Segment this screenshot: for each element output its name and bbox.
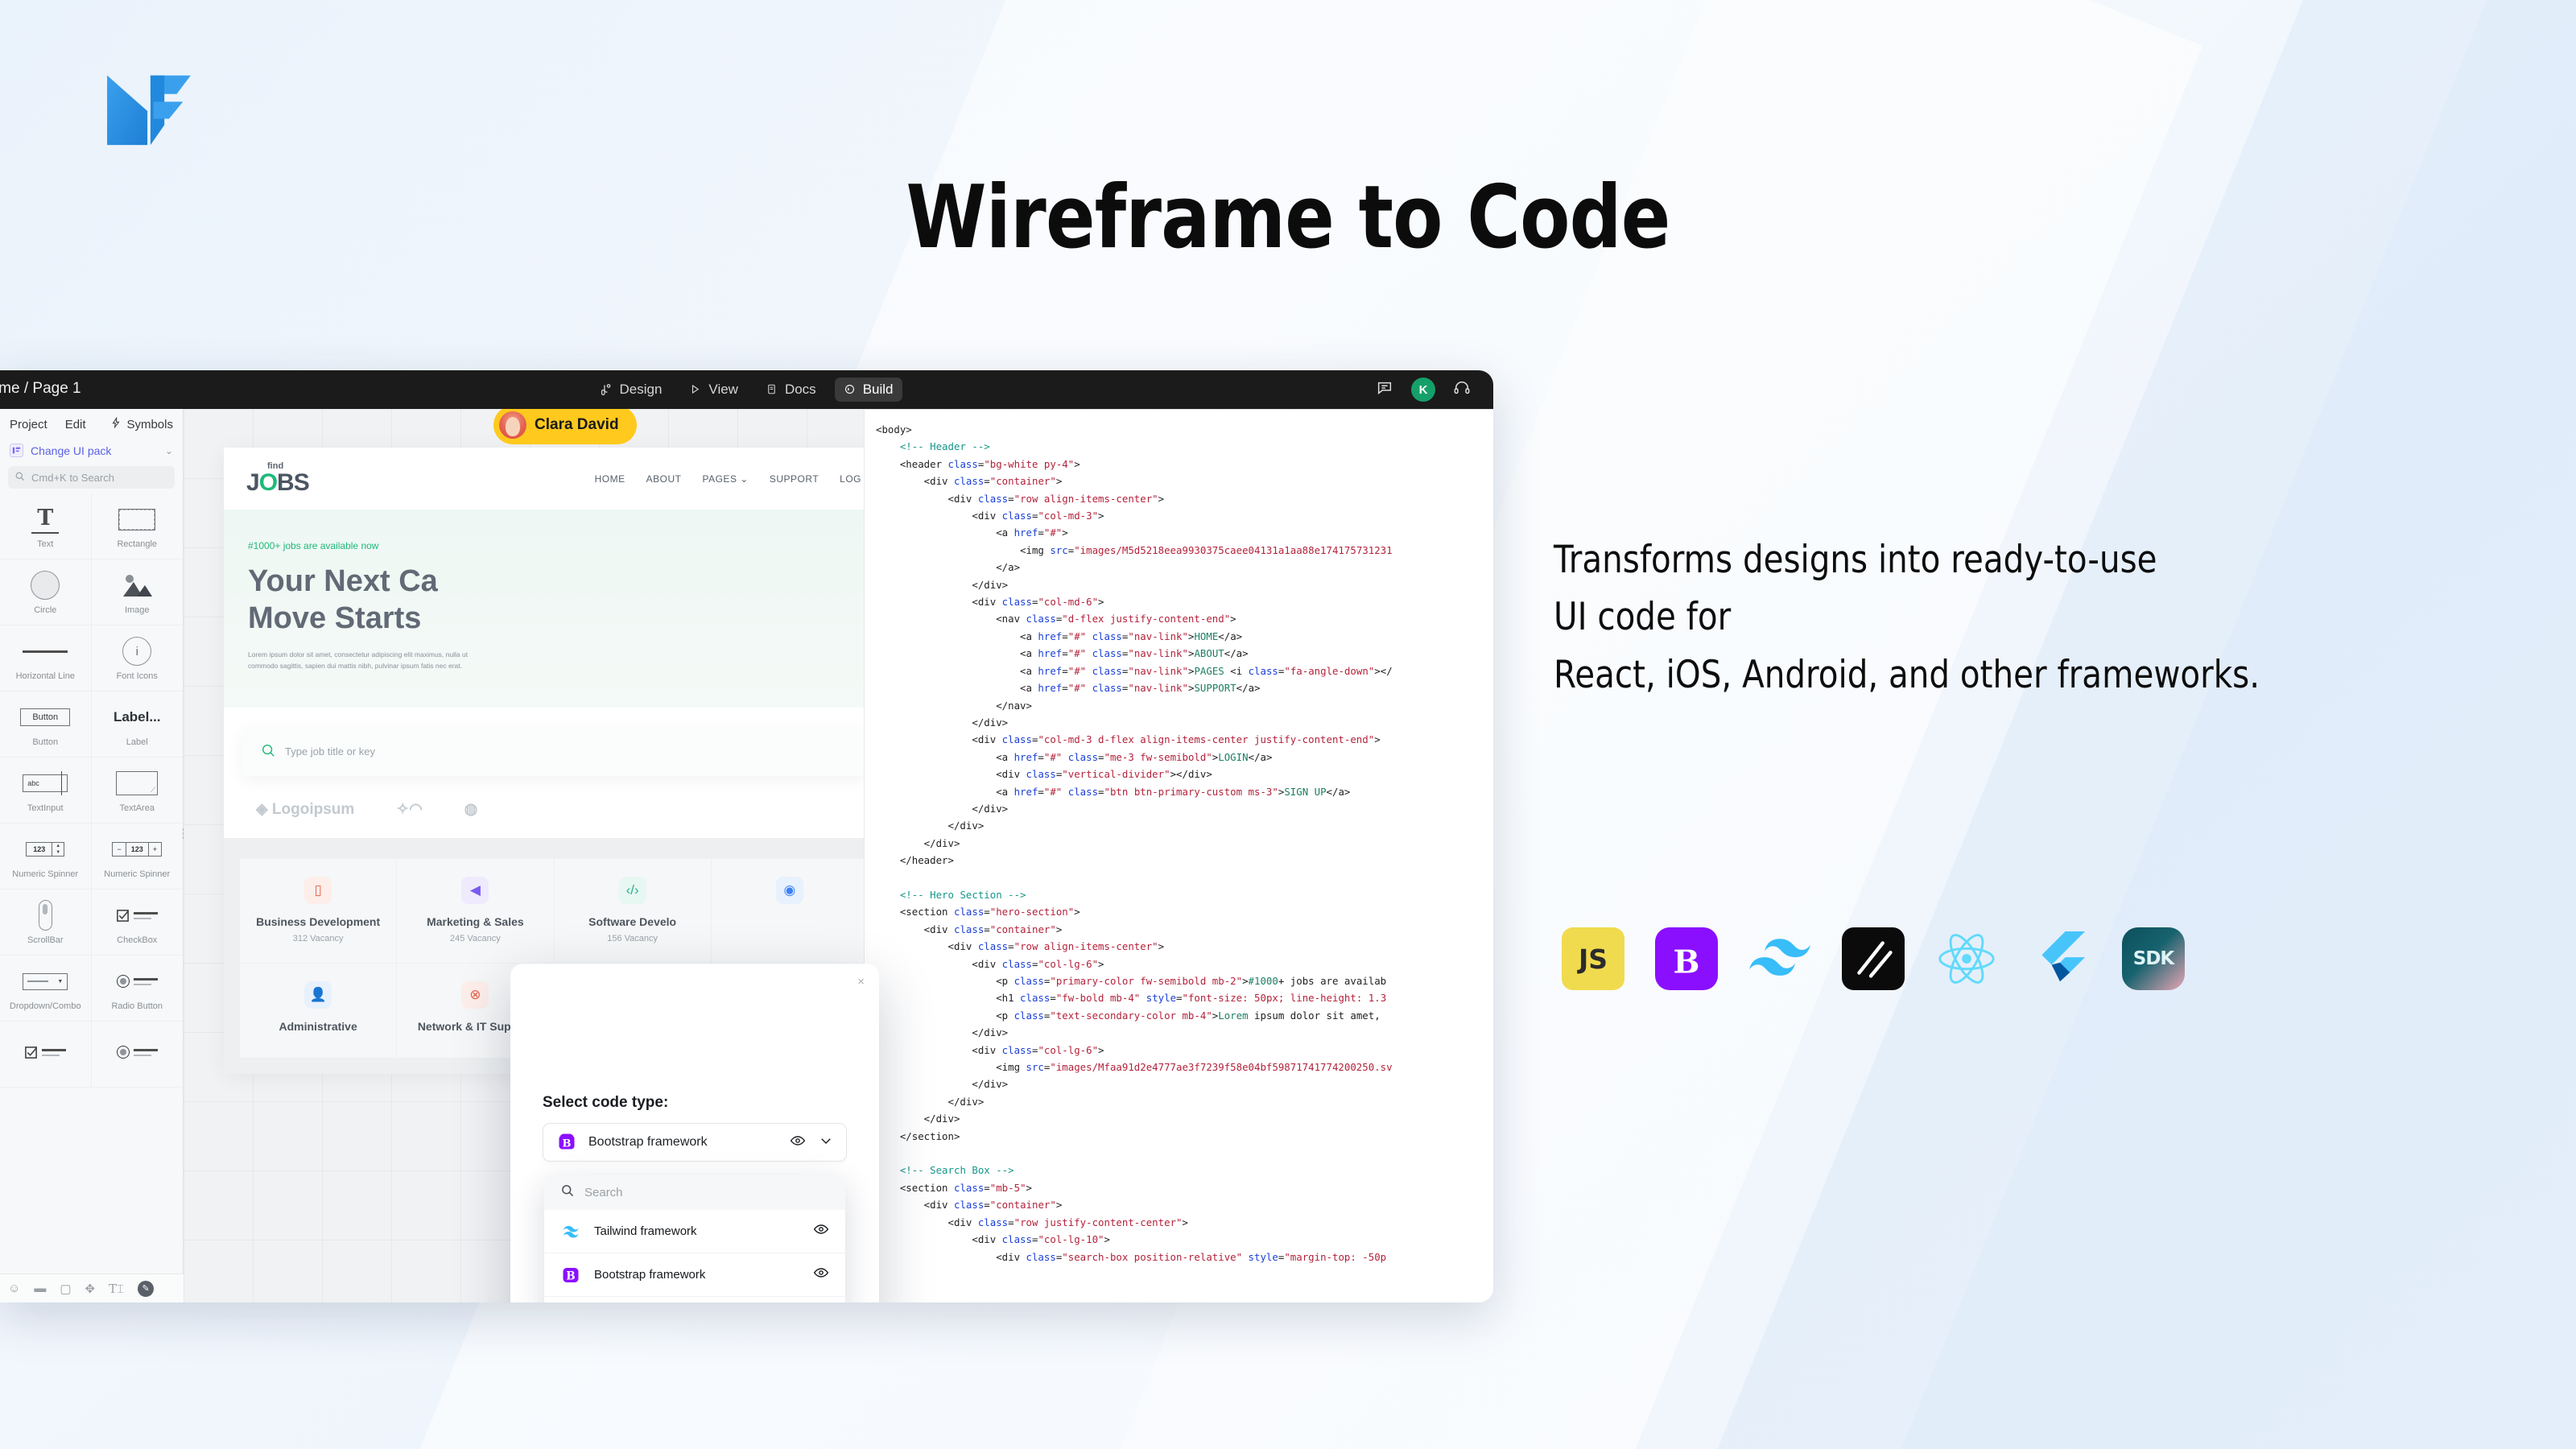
- nav-link-home[interactable]: HOME: [595, 473, 625, 485]
- wireframe-navbar: find JOBS HOME ABOUT PAGES ⌄ SUPPORT LOG: [224, 448, 884, 510]
- category-title: Business Development: [248, 915, 388, 928]
- bootstrap-logo: B: [1655, 927, 1718, 990]
- search-icon: [14, 471, 25, 484]
- code-line: <a href="#" class="me-3 fw-semibold">LOG…: [876, 749, 1493, 766]
- code-line: <div class="col-lg-6">: [876, 1042, 1493, 1059]
- sidebar-bottom-toolbar: ☺ ▬ ▢ ✥ T⌶ ✎: [0, 1274, 184, 1302]
- network-icon: ⊗: [461, 981, 489, 1009]
- category-card[interactable]: ‹/› Software Develo 156 Vacancy: [555, 859, 711, 963]
- hero-badge: #1000+ jobs are available now: [248, 540, 860, 551]
- brand-mark-3: ◍: [464, 800, 478, 819]
- sidebar: Project Edit Symbols Change UI pack ⌄: [0, 409, 184, 1302]
- nav-link-pages[interactable]: PAGES ⌄: [702, 473, 748, 485]
- pen-icon[interactable]: ✎: [138, 1281, 154, 1297]
- move-icon[interactable]: ✥: [85, 1282, 96, 1296]
- sdk-logo: SDK: [2122, 927, 2185, 990]
- button-tool-icon: Button: [20, 701, 70, 733]
- ui-pack-label: Change UI pack: [31, 444, 111, 457]
- sidebar-item-circle[interactable]: Circle: [0, 559, 92, 625]
- close-icon[interactable]: ×: [857, 975, 865, 989]
- tab-build-label: Build: [863, 382, 894, 398]
- tailwind-icon: [560, 1221, 581, 1242]
- sidebar-tab-symbols[interactable]: Symbols: [110, 417, 173, 431]
- hero-paragraph: Lorem ipsum dolor sit amet, consectetur …: [248, 649, 473, 672]
- selected-framework-label: Bootstrap framework: [588, 1135, 708, 1150]
- page-title: Wireframe to Code: [206, 167, 2370, 268]
- topbar-tabs: Design View Docs Build: [0, 370, 1493, 409]
- code-line: <div class="row align-items-center">: [876, 938, 1493, 955]
- code-type-modal: × Select code type: B Bootstrap framewor…: [510, 964, 879, 1302]
- code-content: <body> <!-- Header --> <header class="bg…: [865, 410, 1493, 1265]
- code-line: </div>: [876, 1110, 1493, 1127]
- sidebar-item-rectangle[interactable]: Rectangle: [92, 493, 184, 559]
- code-line: <header class="bg-white py-4">: [876, 456, 1493, 473]
- code-line: </nav>: [876, 697, 1493, 714]
- code-line: <section class="mb-5">: [876, 1179, 1493, 1196]
- tailwind-logo: [1748, 927, 1811, 990]
- play-icon: [689, 383, 703, 397]
- sidebar-item-checkbox[interactable]: CheckBox: [92, 890, 184, 956]
- tool-label: Font Icons: [117, 671, 158, 681]
- code-line: <a href="#" class="nav-link">ABOUT</a>: [876, 645, 1493, 662]
- code-line: </div>: [876, 576, 1493, 593]
- numeric-spinner-tool-icon: 123 ▲▼: [26, 833, 64, 865]
- sidebar-item-font-icons[interactable]: i Font Icons: [92, 625, 184, 691]
- eye-icon[interactable]: [790, 1133, 806, 1153]
- design-icon: [600, 383, 613, 397]
- category-card[interactable]: 👤 Administrative: [240, 964, 396, 1058]
- nav-link-support[interactable]: SUPPORT: [770, 473, 819, 485]
- code-line: </section>: [876, 1128, 1493, 1145]
- sidebar-item-horizontal-line[interactable]: Horizontal Line: [0, 625, 92, 691]
- topbar-right: K: [1376, 370, 1471, 409]
- horizontal-line-tool-icon: [23, 635, 68, 667]
- text-input-tool-icon: abc: [23, 767, 68, 799]
- square-icon[interactable]: ▢: [60, 1282, 71, 1296]
- description-block: Transforms designs into ready-to-use UI …: [1554, 531, 2479, 704]
- radio-button-tool-icon: [117, 1036, 158, 1068]
- text-tool-icon: T: [31, 503, 59, 535]
- code-line: <p class="primary-color fw-semibold mb-2…: [876, 972, 1493, 989]
- tab-design[interactable]: Design: [591, 378, 671, 402]
- category-title: Marketing & Sales: [405, 915, 545, 928]
- code-line: <h1 class="fw-bold mb-4" style="font-siz…: [876, 989, 1493, 1006]
- tool-label: Circle: [34, 605, 56, 615]
- eye-icon[interactable]: [813, 1265, 829, 1285]
- tab-view[interactable]: View: [680, 378, 747, 402]
- wireframe-nav-links: HOME ABOUT PAGES ⌄ SUPPORT LOG: [595, 473, 861, 485]
- description-line-3: React, iOS, Android, and other framework…: [1554, 646, 2350, 704]
- code-line: <a href="#" class="nav-link">HOME</a>: [876, 628, 1493, 645]
- code-line: <body>: [876, 421, 1493, 438]
- tool-label: Radio Button: [111, 1001, 163, 1011]
- option-label: Tailwind framework: [594, 1224, 697, 1238]
- code-line: <!-- Header -->: [876, 438, 1493, 455]
- hero-heading: Your Next Ca Move Starts: [248, 563, 860, 638]
- user-icon: 👤: [304, 981, 332, 1009]
- dropdown-search-input[interactable]: Search: [544, 1174, 845, 1210]
- tool-label: ScrollBar: [27, 935, 64, 945]
- sidebar-item-radio-button-2[interactable]: [92, 1022, 184, 1088]
- description-line-1: Transforms designs into ready-to-use: [1554, 531, 2350, 588]
- code-line: </div>: [876, 714, 1493, 731]
- sidebar-tab-edit[interactable]: Edit: [65, 418, 86, 431]
- dropdown-option-bootstrap[interactable]: B Bootstrap framework: [544, 1253, 845, 1297]
- tool-label: Dropdown/Combo: [10, 1001, 81, 1011]
- sidebar-tool-grid: T Text Rectangle Circle: [0, 493, 183, 1088]
- tab-view-label: View: [708, 382, 738, 398]
- sidebar-tabs: Project Edit Symbols: [0, 409, 183, 438]
- tool-label: CheckBox: [117, 935, 157, 945]
- code-line: <div class="row justify-content-center">: [876, 1214, 1493, 1231]
- code-line: <div class="col-md-6">: [876, 593, 1493, 610]
- code-line: </div>: [876, 835, 1493, 852]
- sidebar-item-scrollbar[interactable]: ScrollBar: [0, 890, 92, 956]
- code-line: <section class="hero-section">: [876, 903, 1493, 920]
- collaborator-name: Clara David: [535, 416, 619, 434]
- modal-title: Select code type:: [543, 1094, 668, 1112]
- framework-dropdown: Search Tailwind framework B Bootstrap fr…: [544, 1174, 845, 1302]
- tool-label: Image: [125, 605, 150, 615]
- code-line: <div class="col-md-3 d-flex align-items-…: [876, 731, 1493, 748]
- sidebar-item-label[interactable]: Label... Label: [92, 691, 184, 758]
- label-tool-icon: Label...: [114, 701, 161, 733]
- tool-label: Numeric Spinner: [12, 869, 78, 879]
- category-vacancy: 245 Vacancy: [405, 934, 545, 943]
- checkbox-tool-icon: [24, 1036, 66, 1068]
- code-line: <!-- Hero Section -->: [876, 886, 1493, 903]
- smiley-icon[interactable]: ☺: [8, 1282, 20, 1295]
- wireframe-search-box[interactable]: Type job title or key: [242, 727, 866, 776]
- sidebar-item-button[interactable]: Button Button: [0, 691, 92, 758]
- scrollbar-tool-icon: [39, 899, 52, 931]
- code-line: <div class="vertical-divider"></div>: [876, 766, 1493, 782]
- collaborator-cursor-label: Clara David: [493, 409, 637, 444]
- category-card[interactable]: ◀ Marketing & Sales 245 Vacancy: [397, 859, 553, 963]
- sidebar-search-placeholder: Cmd+K to Search: [31, 472, 114, 484]
- minus-icon[interactable]: ▬: [34, 1282, 46, 1295]
- chat-icon[interactable]: [1376, 379, 1393, 401]
- rectangle-tool-icon: [118, 503, 155, 535]
- code-line: </div>: [876, 817, 1493, 834]
- sidebar-symbols-label: Symbols: [126, 418, 173, 431]
- circle-tool-icon: [31, 569, 60, 601]
- category-title: Administrative: [248, 1020, 388, 1033]
- headset-icon[interactable]: [1453, 379, 1471, 401]
- nav-link-login[interactable]: LOG: [840, 473, 861, 485]
- wireframe-hero: #1000+ jobs are available now Your Next …: [224, 510, 884, 708]
- dropdown-tool-icon: ▼: [23, 965, 68, 997]
- code-line: <div class="search-box position-relative…: [876, 1249, 1493, 1265]
- option-label: Bootstrap framework: [594, 1268, 705, 1282]
- tab-docs[interactable]: Docs: [757, 378, 825, 402]
- avatar: [499, 411, 526, 439]
- briefcase-icon: ▯: [304, 877, 332, 904]
- search-icon: [261, 743, 275, 760]
- tool-label: Label: [126, 737, 148, 747]
- code-line: <!-- Search Box -->: [876, 1162, 1493, 1179]
- shadcn-logo: [1842, 927, 1905, 990]
- megaphone-icon: ◀: [461, 877, 489, 904]
- code-line: <div class="col-lg-6">: [876, 956, 1493, 972]
- brand-logoipsum: ◈ Logoipsum: [256, 800, 354, 819]
- tool-label: TextArea: [120, 803, 155, 813]
- avatar[interactable]: K: [1411, 378, 1435, 402]
- sidebar-search-input[interactable]: Cmd+K to Search: [8, 466, 175, 489]
- tab-build[interactable]: Build: [835, 378, 902, 402]
- code-line: [876, 869, 1493, 886]
- sidebar-item-textarea[interactable]: ⟋ TextArea: [92, 758, 184, 824]
- search-icon: [560, 1183, 575, 1201]
- nav-link-about[interactable]: ABOUT: [646, 473, 682, 485]
- code-line: [876, 1145, 1493, 1162]
- svg-text:B: B: [563, 1138, 572, 1150]
- brand-mark-2: ✧◠: [396, 800, 423, 819]
- sidebar-item-dropdown[interactable]: ▼ Dropdown/Combo: [0, 956, 92, 1022]
- bootstrap-icon: B: [560, 1265, 581, 1286]
- svg-text:B: B: [566, 1269, 575, 1282]
- sidebar-item-numeric-stepper[interactable]: − 123 + Numeric Spinner: [92, 824, 184, 890]
- code-line: <div class="container">: [876, 473, 1493, 489]
- code-line: <div class="row align-items-center">: [876, 490, 1493, 507]
- tab-design-label: Design: [619, 382, 662, 398]
- code-icon: ‹/›: [619, 877, 646, 904]
- eye-icon[interactable]: [813, 1221, 829, 1241]
- sidebar-item-change-ui-pack[interactable]: Change UI pack ⌄: [0, 438, 183, 463]
- sidebar-item-textinput[interactable]: abc TextInput: [0, 758, 92, 824]
- flutter-logo: [2029, 927, 2091, 990]
- description-line-2: UI code for: [1554, 588, 2350, 646]
- category-card[interactable]: ◉: [712, 859, 868, 963]
- category-vacancy: 312 Vacancy: [248, 934, 388, 943]
- numeric-stepper-tool-icon: − 123 +: [112, 833, 162, 865]
- code-line: <img src="images/M5d5218eea9930375caee04…: [876, 542, 1493, 559]
- code-line: <div class="container">: [876, 921, 1493, 938]
- code-panel[interactable]: <body> <!-- Header --> <header class="bg…: [864, 410, 1493, 1302]
- wireframe-search-placeholder: Type job title or key: [285, 745, 375, 758]
- category-title: Software Develo: [563, 915, 703, 928]
- chevron-down-icon: ⌄: [740, 473, 749, 485]
- code-line: </div>: [876, 1075, 1493, 1092]
- wireframe-brand-row: ◈ Logoipsum ✧◠ ◍: [224, 776, 884, 838]
- tool-label: Rectangle: [117, 539, 157, 549]
- code-line: <a href="#" class="nav-link">PAGES <i cl…: [876, 663, 1493, 679]
- javascript-logo: JS: [1562, 927, 1624, 990]
- type-icon[interactable]: T⌶: [109, 1282, 124, 1296]
- wf-monogram-logo: [101, 71, 196, 148]
- framework-logo-row: JS B SDK: [1562, 927, 2185, 990]
- category-vacancy: 156 Vacancy: [563, 934, 703, 943]
- text-area-tool-icon: ⟋: [116, 767, 158, 799]
- code-type-select[interactable]: B Bootstrap framework: [543, 1123, 847, 1162]
- logo-jobs-text: JOBS: [246, 471, 309, 495]
- document-icon: [766, 383, 779, 397]
- build-icon: [844, 383, 857, 397]
- code-line: <img src="images/Mfaa91d2e4777ae3f7239f5…: [876, 1059, 1493, 1075]
- dropdown-option-tailwind[interactable]: Tailwind framework: [544, 1210, 845, 1253]
- search-badge-icon: ◉: [776, 877, 803, 904]
- bootstrap-icon: B: [556, 1132, 577, 1153]
- tool-label: Horizontal Line: [16, 671, 75, 681]
- dropdown-search-placeholder: Search: [584, 1186, 623, 1199]
- sidebar-tab-project[interactable]: Project: [10, 418, 47, 431]
- checkbox-tool-icon: [116, 899, 158, 931]
- image-tool-icon: [121, 569, 153, 601]
- code-line: </div>: [876, 800, 1493, 817]
- code-line: <div class="container">: [876, 1196, 1493, 1213]
- tool-label: Numeric Spinner: [104, 869, 170, 879]
- lightning-icon: [110, 417, 122, 431]
- code-line: <div class="col-lg-10">: [876, 1231, 1493, 1248]
- ui-pack-icon: [10, 444, 23, 457]
- wireframe-logo: find JOBS: [246, 462, 309, 495]
- tool-label: TextInput: [27, 803, 64, 813]
- code-line: <div class="col-md-3">: [876, 507, 1493, 524]
- sidebar-item-image[interactable]: Image: [92, 559, 184, 625]
- code-line: <a href="#" class="nav-link">SUPPORT</a>: [876, 679, 1493, 696]
- code-line: </a>: [876, 559, 1493, 576]
- code-line: </div>: [876, 1093, 1493, 1110]
- dropdown-option-material[interactable]: Material framework: [544, 1297, 845, 1302]
- svg-text:B: B: [1674, 944, 1700, 981]
- font-icons-tool-icon: i: [122, 635, 151, 667]
- react-logo: [1935, 927, 1998, 990]
- chevron-down-icon[interactable]: [819, 1133, 833, 1152]
- code-line: </div>: [876, 1024, 1493, 1041]
- radio-button-tool-icon: [117, 965, 158, 997]
- code-line: <a href="#">: [876, 524, 1493, 541]
- sidebar-item-radio-button[interactable]: Radio Button: [92, 956, 184, 1022]
- code-line: <p class="text-secondary-color mb-4">Lor…: [876, 1007, 1493, 1024]
- sidebar-item-numeric-spinner[interactable]: 123 ▲▼ Numeric Spinner: [0, 824, 92, 890]
- code-line: </header>: [876, 852, 1493, 869]
- category-card[interactable]: ▯ Business Development 312 Vacancy: [240, 859, 396, 963]
- sidebar-item-checkbox-2[interactable]: [0, 1022, 92, 1088]
- chevron-down-icon: ⌄: [165, 445, 173, 456]
- app-window: frame / Page 1 Design View Docs: [0, 370, 1493, 1302]
- tab-docs-label: Docs: [785, 382, 816, 398]
- sidebar-item-text[interactable]: T Text: [0, 493, 92, 559]
- tool-label: Text: [37, 539, 53, 549]
- code-line: <nav class="d-flex justify-content-end">: [876, 610, 1493, 627]
- app-topbar: frame / Page 1 Design View Docs: [0, 370, 1493, 409]
- tool-label: Button: [32, 737, 58, 747]
- code-line: <a href="#" class="btn btn-primary-custo…: [876, 783, 1493, 800]
